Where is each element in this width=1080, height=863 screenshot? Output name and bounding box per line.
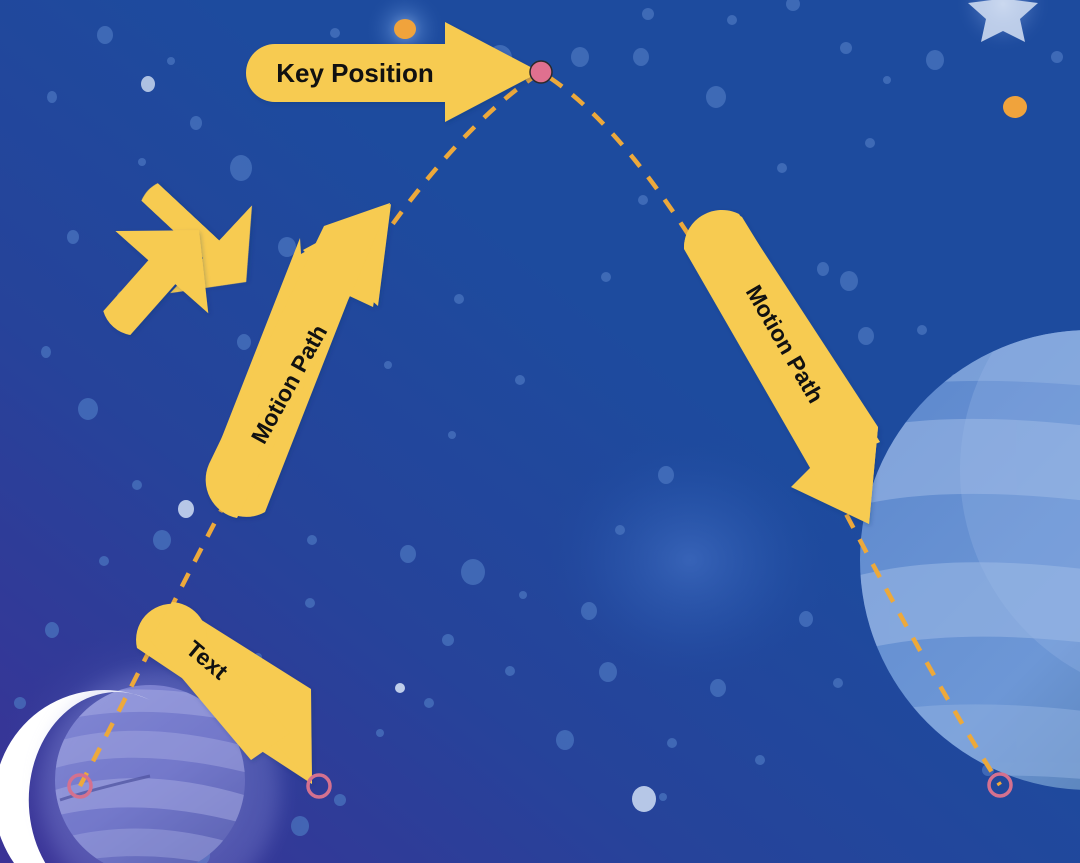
- scene-canvas: Key Position Motion Path Motion Pat: [0, 0, 1080, 863]
- marker-layer: [0, 0, 1080, 863]
- key-position-dot[interactable]: [530, 61, 552, 83]
- path-end-ring[interactable]: [989, 774, 1011, 796]
- path-mid-ring[interactable]: [308, 775, 330, 797]
- path-start-ring[interactable]: [69, 775, 91, 797]
